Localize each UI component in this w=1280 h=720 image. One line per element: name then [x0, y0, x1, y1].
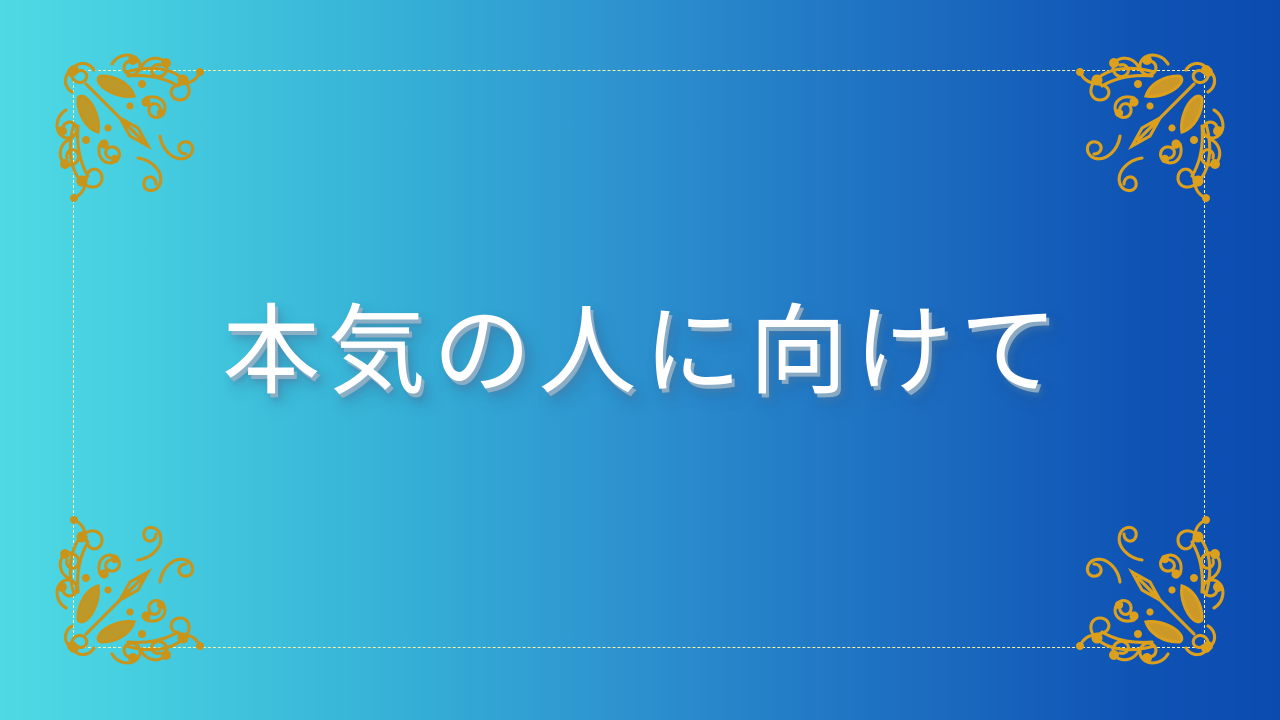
slide-title-container: 本気の人に向けて: [0, 0, 1280, 720]
presentation-slide: 本気の人に向けて: [0, 0, 1280, 720]
page-title: 本気の人に向けて: [215, 296, 1065, 412]
